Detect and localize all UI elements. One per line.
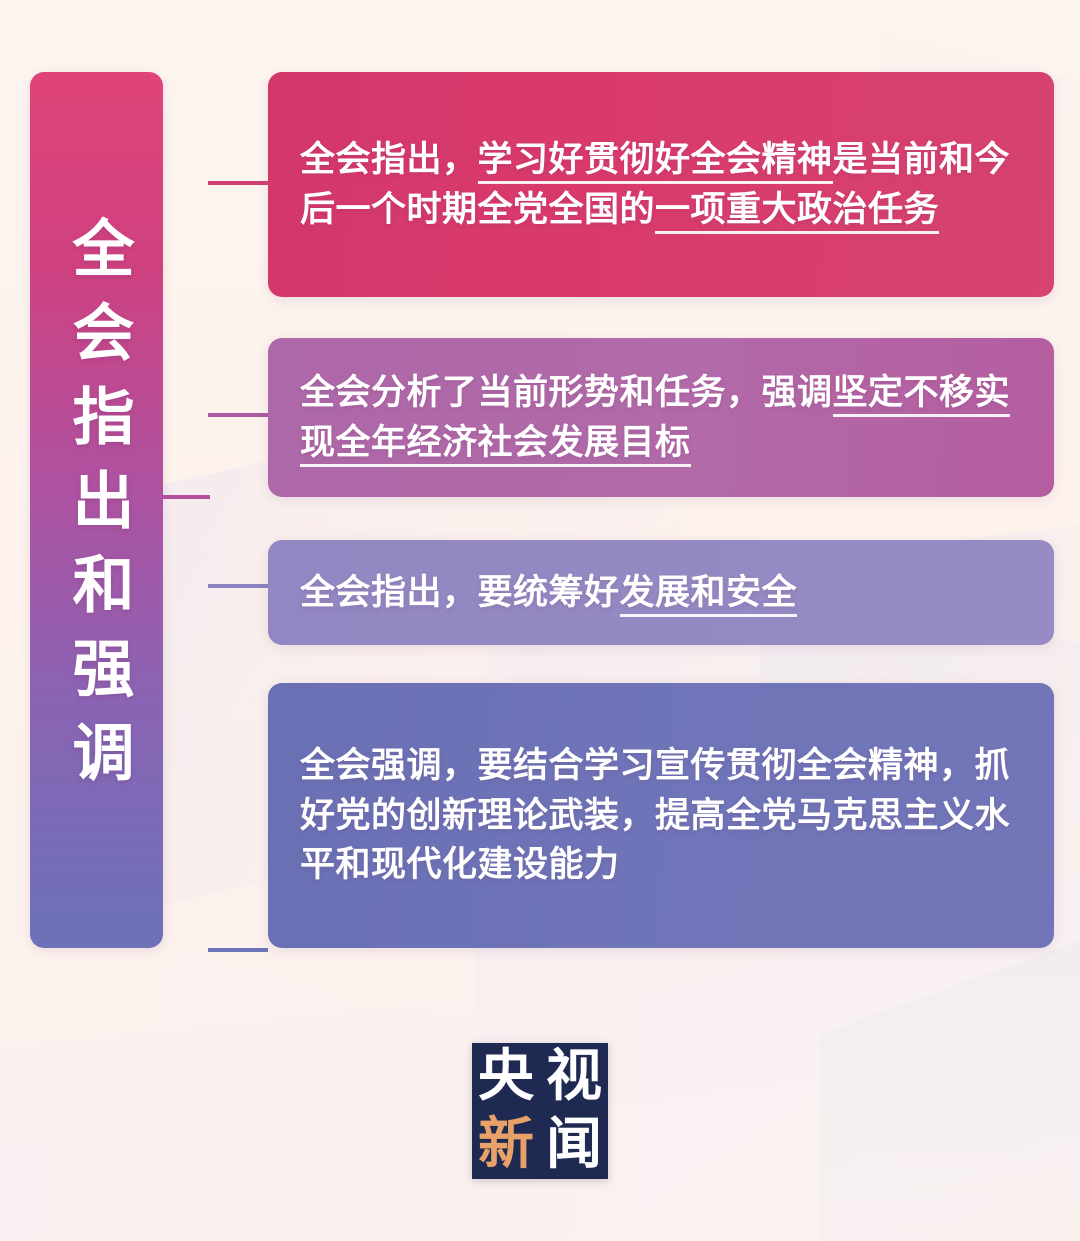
page-title: 全会指出和强调 [66,216,128,804]
infographic-poster: 全会指出和强调 全会指出，学习好贯彻好全会精神是当前和今后一个时期全党全国的一项… [0,0,1080,1241]
emphasised-phrase: 学习好贯彻好全会精神 [478,140,833,184]
statement-card-4: 全会强调，要结合学习宣传贯彻全会精神，抓好党的创新理论武装，提高全党马克思主义水… [268,683,1054,948]
plain-phrase: 全会指出，要统筹好 [300,573,620,612]
emphasised-phrase: 发展和安全 [620,573,798,617]
logo-char-4: 闻 [540,1111,608,1179]
statement-card-3-text: 全会指出，要统筹好发展和安全 [300,568,797,618]
statement-card-1: 全会指出，学习好贯彻好全会精神是当前和今后一个时期全党全国的一项重大政治任务 [268,72,1054,297]
statement-card-3: 全会指出，要统筹好发展和安全 [268,540,1054,645]
background-facet-7 [820,925,1080,1241]
statement-card-2: 全会分析了当前形势和任务，强调坚定不移实现全年经济社会发展目标 [268,338,1054,497]
plain-phrase: 全会分析了当前形势和任务，强调 [300,373,833,412]
logo-char-3: 新 [472,1111,540,1179]
vertical-title-bar: 全会指出和强调 [30,72,163,948]
emphasised-phrase: 一项重大政治任务 [655,190,939,234]
logo-char-1: 央 [472,1043,540,1111]
statement-card-4-text: 全会强调，要结合学习宣传贯彻全会精神，抓好党的创新理论武装，提高全党马克思主义水… [300,741,1024,890]
statement-card-2-text: 全会分析了当前形势和任务，强调坚定不移实现全年经济社会发展目标 [300,368,1024,467]
background-facet-5 [0,971,740,1241]
plain-phrase: 全会强调，要结合学习宣传贯彻全会精神，抓好党的创新理论武装，提高全党马克思主义水… [300,746,1010,884]
plain-phrase: 全会指出， [300,140,478,179]
logo-char-2: 视 [540,1043,608,1111]
cctv-news-logo: 央 视 新 闻 [472,1043,608,1179]
statement-card-1-text: 全会指出，学习好贯彻好全会精神是当前和今后一个时期全党全国的一项重大政治任务 [300,135,1024,234]
